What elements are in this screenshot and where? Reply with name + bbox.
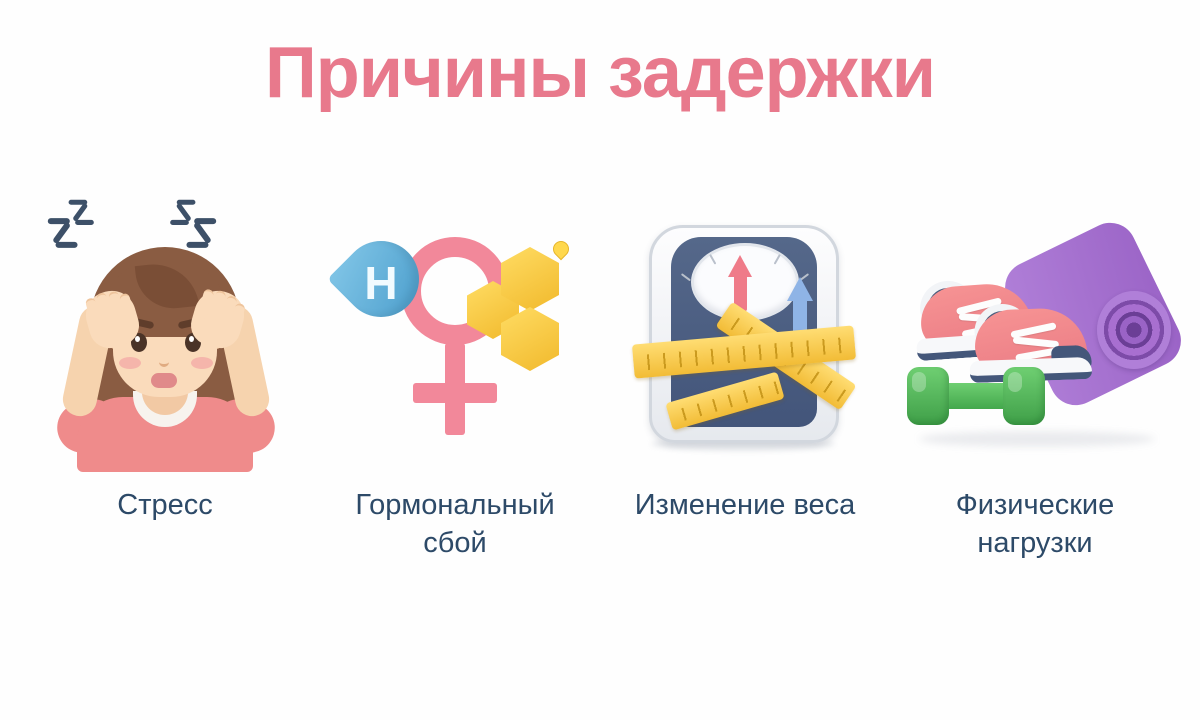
nose [159,355,169,367]
mouth-frowning [151,373,177,388]
cause-label-weight: Изменение веса [615,487,875,525]
hormone-composition: H [325,215,585,465]
dumbbell-head-left [907,367,949,425]
causes-list: Стресс H Гормональный сбой [0,215,1200,562]
fitness-composition [905,215,1165,465]
droplet-letter-h: H [343,241,419,317]
cause-label-hormonal: Гормональный сбой [325,487,585,562]
cause-label-stress: Стресс [35,487,295,525]
sneakers-dumbbell-yoga-mat-icon [905,215,1165,465]
page-title: Причины задержки [0,36,1200,112]
cause-item-weight: Изменение веса [600,215,890,525]
stressed-woman-illustration [35,215,295,465]
cause-label-physical-activity: Физические нагрузки [905,487,1165,562]
dumbbell-head-right [1003,367,1045,425]
cause-item-stress: Стресс [20,215,310,525]
venus-cross [413,383,497,403]
blush-left [119,357,141,369]
page-title-container: Причины задержки [0,36,1200,112]
woman-figure [35,215,295,465]
yoga-mat-roll-end [1097,291,1171,369]
hormone-venus-symbol-icon: H [325,215,585,465]
shirt-body [77,397,253,472]
blush-right [191,357,213,369]
slide-canvas: Причины задержки [0,0,1200,720]
scale-composition [615,215,875,465]
honey-drop-icon [550,238,573,261]
fitness-shadow [919,431,1155,447]
bathroom-scale-with-tape-icon [615,215,875,465]
cause-item-physical-activity: Физические нагрузки [890,215,1180,562]
cause-item-hormonal: H Гормональный сбой [310,215,600,562]
